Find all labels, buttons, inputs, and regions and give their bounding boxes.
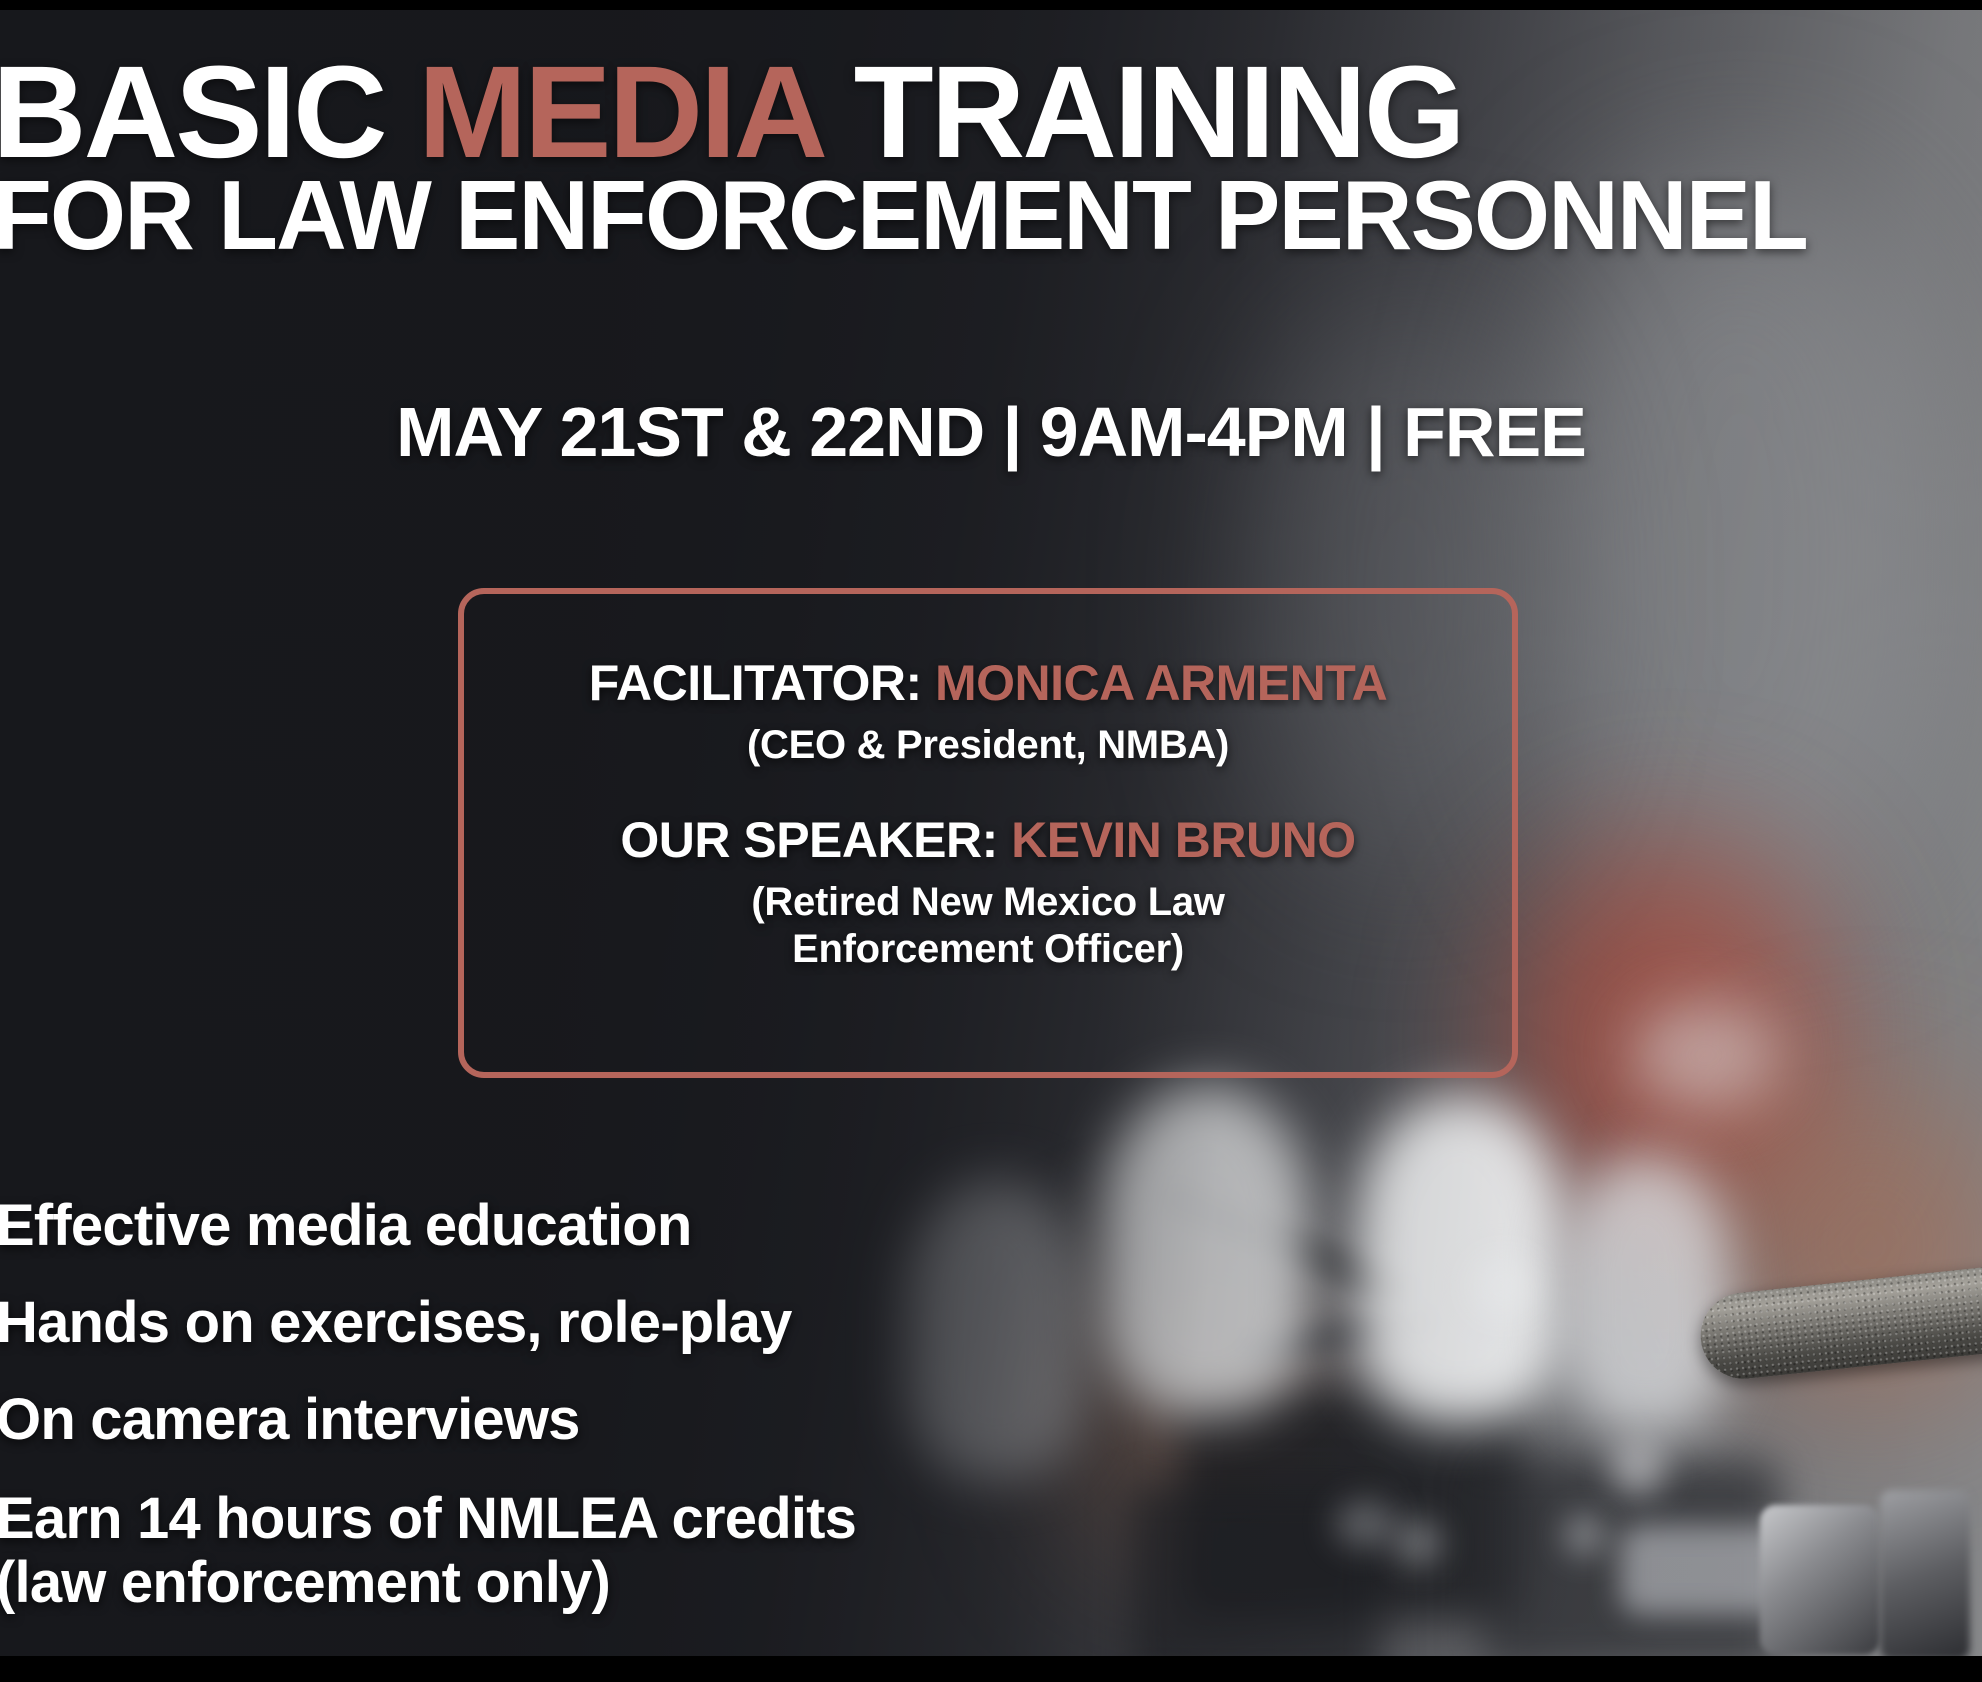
poster-content: BASIC MEDIA TRAINING FOR LAW ENFORCEMENT… (0, 0, 1982, 1682)
speaker-title-line-2: Enforcement Officer) (498, 926, 1478, 973)
list-item-credits: Earn 14 hours of NMLEA credits (law enfo… (0, 1487, 1196, 1615)
speaker-name: KEVIN BRUNO (1011, 812, 1356, 868)
page-title: BASIC MEDIA TRAINING (0, 48, 1982, 176)
facilitator-title: (CEO & President, NMBA) (498, 722, 1478, 769)
feature-list: Effective media education Hands on exerc… (0, 1196, 1196, 1615)
list-item: On camera interviews (0, 1390, 1196, 1449)
facilitator-name: MONICA ARMENTA (935, 655, 1387, 711)
presenter-box: FACILITATOR: MONICA ARMENTA (CEO & Presi… (458, 588, 1518, 1078)
speaker-line: OUR SPEAKER: KEVIN BRUNO (498, 811, 1478, 869)
letterbox-bar-bottom (0, 1656, 1982, 1682)
speaker-label: OUR SPEAKER: (620, 812, 1011, 868)
page-subtitle: FOR LAW ENFORCEMENT PERSONNEL (0, 166, 1982, 264)
letterbox-bar-top (0, 0, 1982, 10)
list-item: Effective media education (0, 1196, 1196, 1255)
event-details-bar: MAY 21ST & 22ND | 9AM-4PM | FREE (0, 392, 1982, 472)
flyer-poster: BASIC MEDIA TRAINING FOR LAW ENFORCEMENT… (0, 0, 1982, 1682)
speaker-title: (Retired New Mexico Law Enforcement Offi… (498, 879, 1478, 973)
presenter-spacer (498, 769, 1478, 811)
speaker-title-line-1: (Retired New Mexico Law (498, 879, 1478, 926)
credits-line-1: Earn 14 hours of NMLEA credits (0, 1487, 1196, 1551)
facilitator-line: FACILITATOR: MONICA ARMENTA (498, 654, 1478, 712)
credits-line-2: (law enforcement only) (0, 1551, 1196, 1615)
facilitator-label: FACILITATOR: (589, 655, 935, 711)
list-item: Hands on exercises, role-play (0, 1293, 1196, 1352)
